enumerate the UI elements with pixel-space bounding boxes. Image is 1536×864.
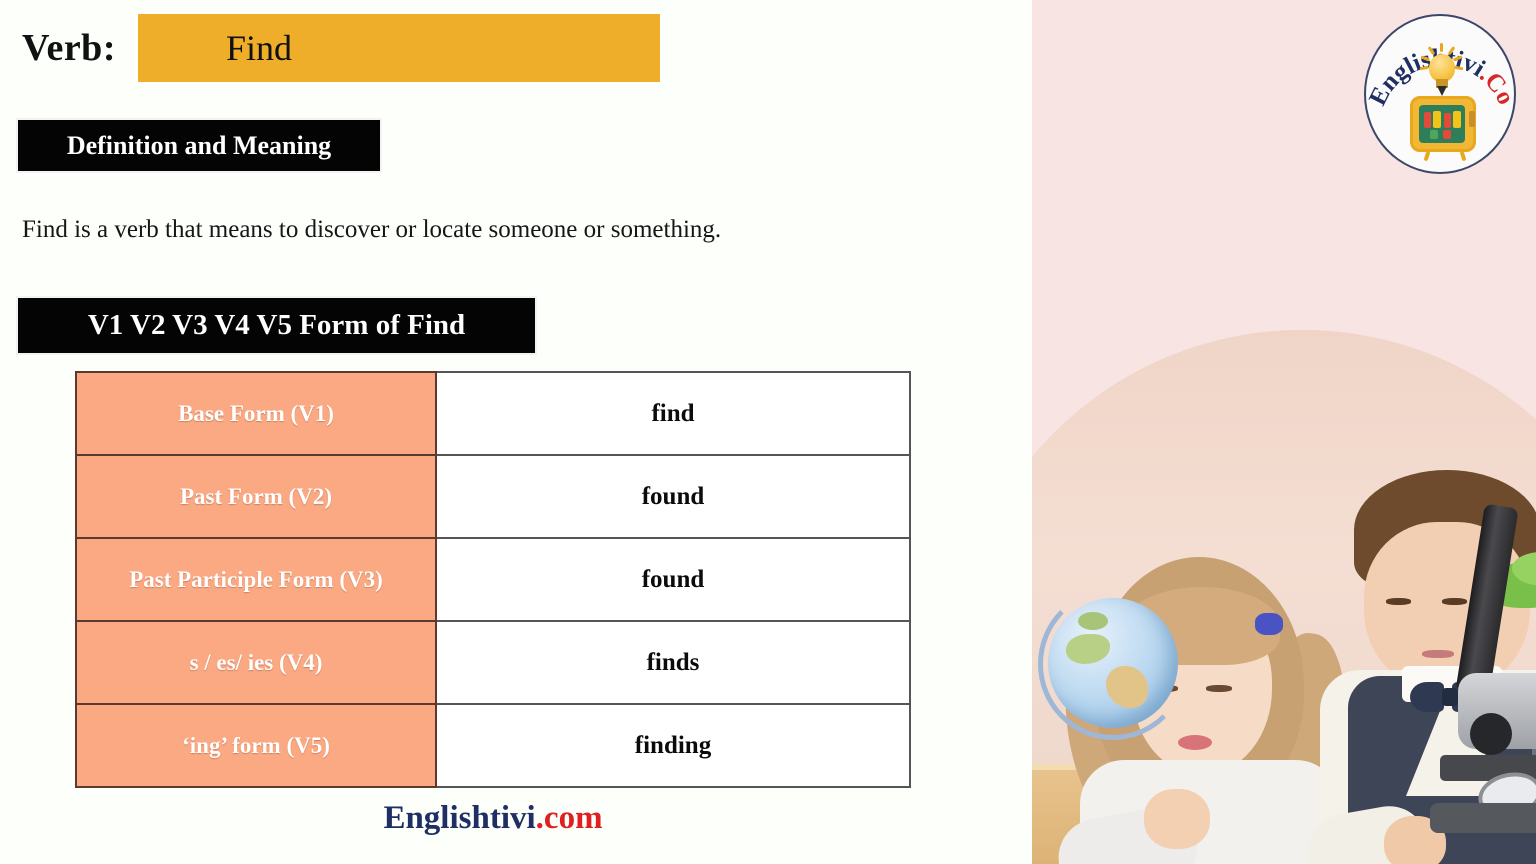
verb-forms-heading: V1 V2 V3 V4 V5 Form of Find <box>18 298 535 353</box>
verb-forms-table: Base Form (V1)findPast Form (V2)foundPas… <box>75 371 911 788</box>
microscope-tube <box>1455 504 1518 697</box>
boy-eye-left <box>1386 598 1411 605</box>
verb-label: Verb: <box>22 26 116 70</box>
globe-landmass-c <box>1078 612 1108 630</box>
infographic-page: Englishtivi.Com <box>0 0 1536 864</box>
microscope-lens <box>1470 713 1512 755</box>
form-value-cell: finding <box>436 704 910 787</box>
table-row: Past Form (V2)found <box>76 455 910 538</box>
table-row: Base Form (V1)find <box>76 372 910 455</box>
tv-screen <box>1419 105 1465 143</box>
tv-knob <box>1469 111 1475 127</box>
form-value-cell: find <box>436 372 910 455</box>
definition-heading: Definition and Meaning <box>18 120 380 171</box>
table-row: Past Participle Form (V3)found <box>76 538 910 621</box>
globe-icon <box>1048 598 1178 728</box>
form-value-cell: finds <box>436 621 910 704</box>
photo-scene <box>1032 330 1536 864</box>
globe-landmass-a <box>1066 634 1110 664</box>
form-value-cell: found <box>436 455 910 538</box>
definition-text: Find is a verb that means to discover or… <box>22 216 721 244</box>
girl-hair-band-right <box>1255 613 1283 635</box>
girl-hand-upper <box>1144 789 1210 849</box>
form-label-cell: Base Form (V1) <box>76 372 436 455</box>
form-value-cell: found <box>436 538 910 621</box>
table-row: s / es/ ies (V4)finds <box>76 621 910 704</box>
form-label-cell: Past Participle Form (V3) <box>76 538 436 621</box>
form-label-cell: ‘ing’ form (V5) <box>76 704 436 787</box>
students-photo <box>1032 330 1536 864</box>
footer-brand-tld: .com <box>536 800 603 836</box>
verb-word: Find <box>138 27 292 69</box>
verb-header-row: Verb: Find <box>22 14 660 82</box>
table-row: ‘ing’ form (V5)finding <box>76 704 910 787</box>
microscope-base <box>1430 803 1536 833</box>
verb-highlight-box: Find <box>138 14 660 82</box>
girl-eye-right <box>1206 685 1232 692</box>
form-label-cell: Past Form (V2) <box>76 455 436 538</box>
lightbulb-glass <box>1429 54 1455 82</box>
lightbulb-icon <box>1425 54 1459 94</box>
girl-mouth <box>1178 735 1212 750</box>
footer-brand-name: Englishtivi <box>383 800 535 836</box>
microscope-icon <box>1422 505 1536 845</box>
globe-landmass-b <box>1106 666 1148 708</box>
form-label-cell: s / es/ ies (V4) <box>76 621 436 704</box>
englishtivi-logo[interactable]: Englishtivi.Com <box>1364 14 1516 174</box>
television-icon <box>1410 96 1476 152</box>
footer-brand: Englishtivi.com <box>75 800 911 837</box>
